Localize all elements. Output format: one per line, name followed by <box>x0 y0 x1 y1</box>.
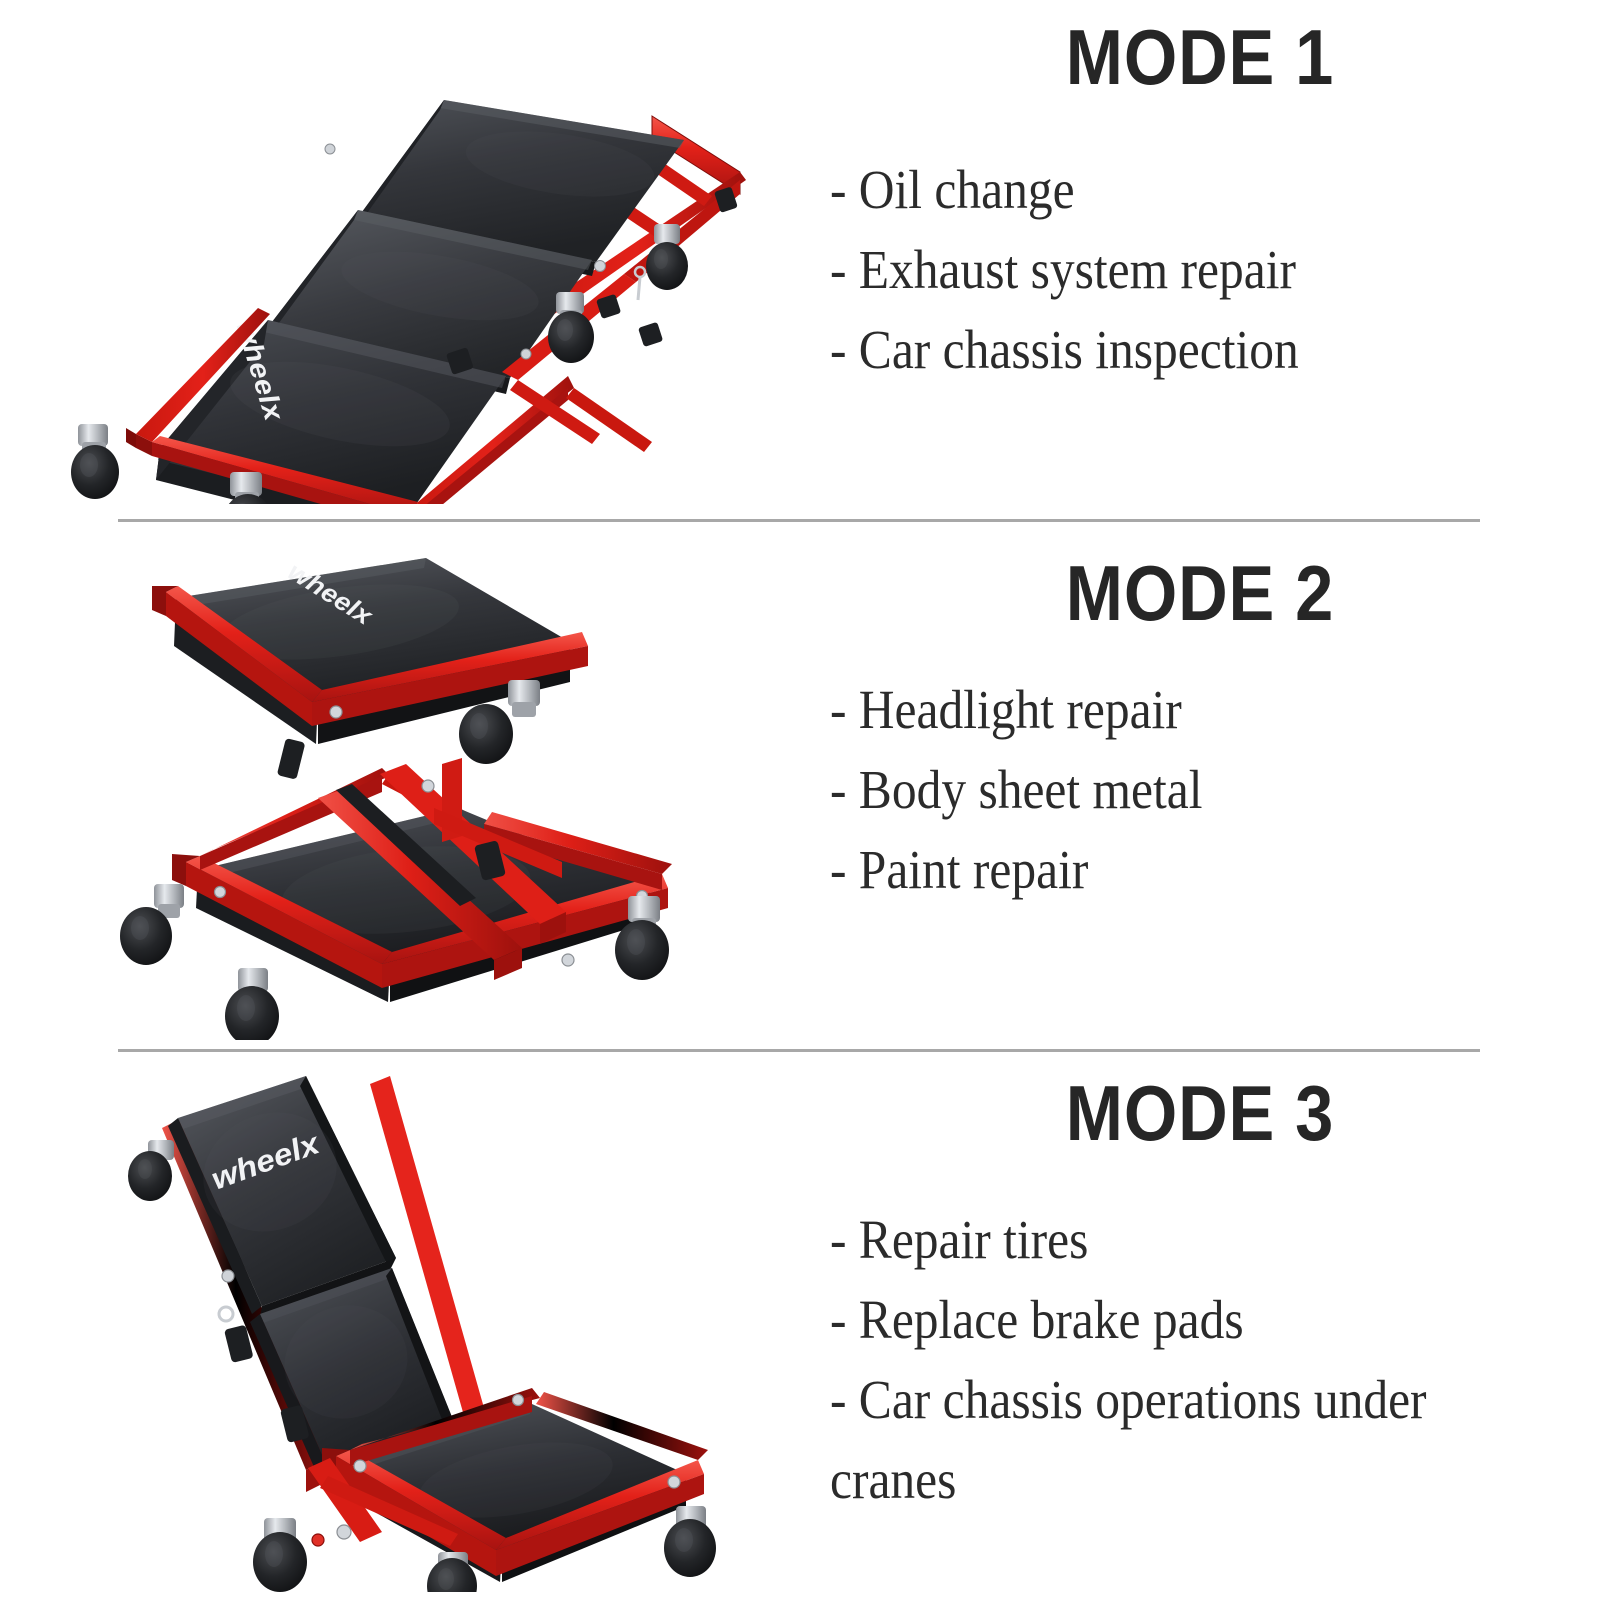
list-item: -Paint repair <box>830 830 1514 910</box>
bullet-dash: - <box>830 1200 859 1280</box>
mode-section-2: wheelx <box>0 522 1600 1050</box>
list-item: -Headlight repair <box>830 670 1514 750</box>
mode-section-1: wheelx <box>0 0 1600 520</box>
bullet-dash: - <box>830 1360 859 1440</box>
product-photo-mode-2: wheelx <box>0 522 800 1050</box>
list-item-label: Car chassis inspection <box>859 319 1299 380</box>
caster-backrest-top <box>128 1140 174 1201</box>
mode-2-feature-list: -Headlight repair -Body sheet metal -Pai… <box>830 670 1590 910</box>
product-photo-mode-1: wheelx <box>0 0 800 520</box>
list-item: -Body sheet metal <box>830 750 1514 830</box>
bullet-dash: - <box>830 830 859 910</box>
bullet-dash: - <box>830 1280 859 1360</box>
list-item-label: Paint repair <box>859 839 1089 900</box>
mode-2-heading: MODE 2 <box>848 554 1552 632</box>
list-item-label: Headlight repair <box>859 679 1182 740</box>
list-item-label: Body sheet metal <box>859 759 1203 820</box>
mode-3-heading: MODE 3 <box>848 1074 1552 1152</box>
list-item: -Car chassis operations under cranes <box>830 1360 1541 1520</box>
caster-lower-front <box>225 968 279 1040</box>
list-item-label: Repair tires <box>859 1209 1089 1270</box>
creeper-flat-illustration: wheelx <box>40 24 780 504</box>
list-item: -Repair tires <box>830 1200 1514 1280</box>
mode-3-text-pane: MODE 3 -Repair tires -Replace brake pads… <box>800 1052 1600 1600</box>
list-item-label: Exhaust system repair <box>859 239 1296 300</box>
caster-lower-left <box>120 884 184 965</box>
caster-right-rear <box>664 1506 716 1577</box>
mode-1-heading: MODE 1 <box>848 18 1552 96</box>
caster-front-left <box>71 424 119 499</box>
infographic-page: wheelx <box>0 0 1600 1600</box>
creeper-stool-illustration: wheelx <box>90 540 750 1040</box>
list-item: -Exhaust system repair <box>830 230 1514 310</box>
bullet-dash: - <box>830 150 859 230</box>
mode-1-feature-list: -Oil change -Exhaust system repair -Car … <box>830 150 1590 390</box>
bullet-dash: - <box>830 310 859 390</box>
list-item-label: Car chassis operations under cranes <box>830 1369 1427 1510</box>
list-item-label: Replace brake pads <box>859 1289 1244 1350</box>
caster-front-left <box>253 1518 307 1592</box>
mode-3-feature-list: -Repair tires -Replace brake pads -Car c… <box>830 1200 1590 1520</box>
list-item: -Replace brake pads <box>830 1280 1514 1360</box>
creeper-chair-illustration: wheelx <box>120 1062 740 1592</box>
mode-1-text-pane: MODE 1 -Oil change -Exhaust system repai… <box>800 0 1600 520</box>
bullet-dash: - <box>830 230 859 310</box>
list-item: -Oil change <box>830 150 1514 230</box>
bullet-dash: - <box>830 670 859 750</box>
mode-2-text-pane: MODE 2 -Headlight repair -Body sheet met… <box>800 522 1600 1050</box>
list-item: -Car chassis inspection <box>830 310 1514 390</box>
bullet-dash: - <box>830 750 859 830</box>
product-photo-mode-3: wheelx <box>0 1052 800 1600</box>
list-item-label: Oil change <box>859 159 1075 220</box>
mode-section-3: wheelx <box>0 1052 1600 1600</box>
